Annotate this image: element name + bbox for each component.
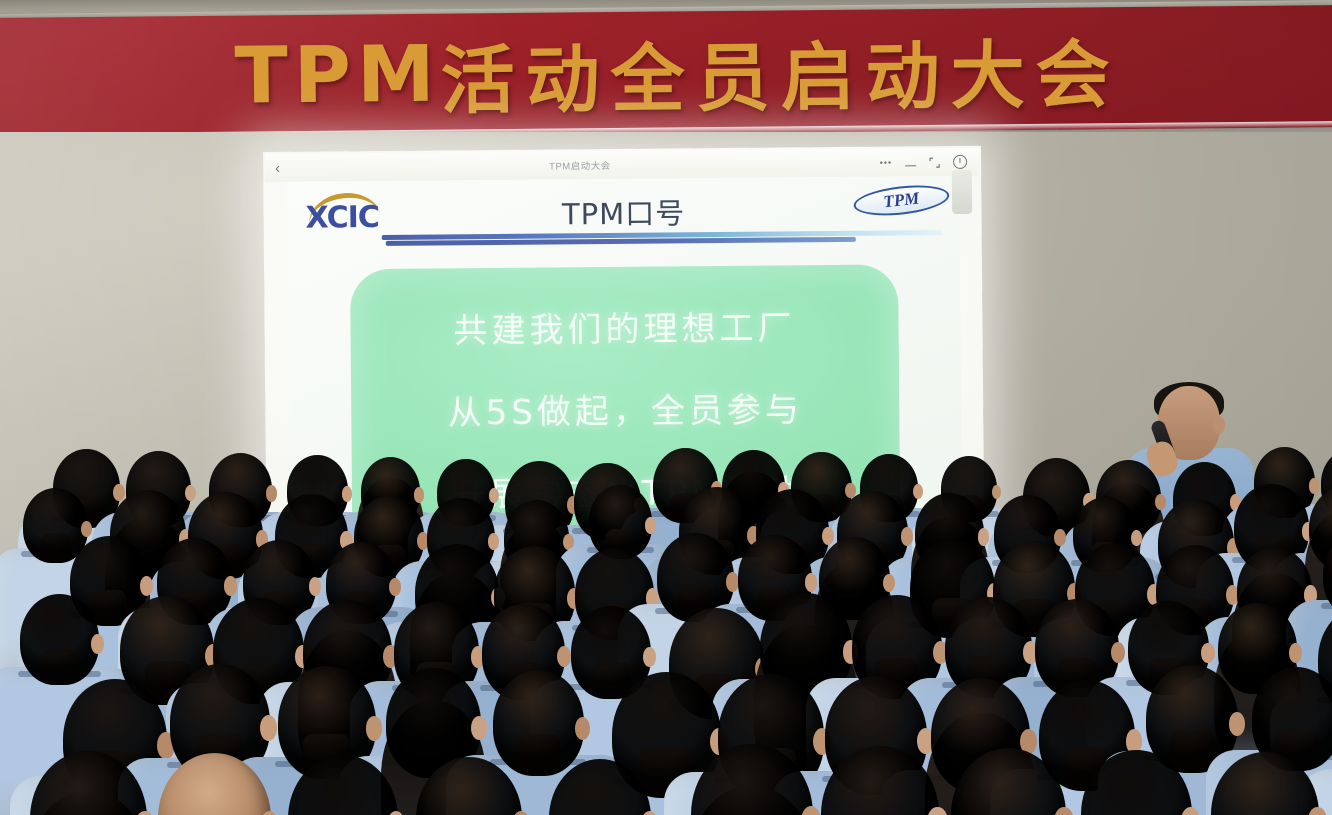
more-options-icon[interactable]: •••	[880, 158, 893, 168]
window-title: TPM启动大会	[280, 156, 880, 175]
photo-scene: TPM活动全员启动大会 ‹ TPM启动大会 ••• XCIC	[0, 0, 1332, 815]
scrollbar-nub[interactable]	[952, 170, 972, 214]
tpm-logo-text: TPM	[852, 181, 951, 220]
banner-text: TPM活动全员启动大会	[0, 5, 1332, 140]
event-banner: TPM活动全员启动大会	[0, 5, 1332, 140]
restore-icon[interactable]	[929, 157, 940, 168]
slogan-line: 共建我们的理想工厂	[453, 300, 795, 352]
banner-text-latin: TPM	[234, 30, 441, 122]
presenter-ear	[1213, 416, 1225, 434]
banner-text-chinese: 活动全员启动大会	[440, 15, 1121, 129]
window-controls[interactable]: •••	[880, 155, 968, 170]
close-icon[interactable]	[953, 155, 967, 169]
audience-member	[1288, 754, 1332, 815]
slogan-line: 从5S做起，全员参与	[447, 382, 803, 434]
tpm-logo: TPM	[853, 186, 949, 215]
minimize-icon[interactable]	[905, 159, 916, 166]
